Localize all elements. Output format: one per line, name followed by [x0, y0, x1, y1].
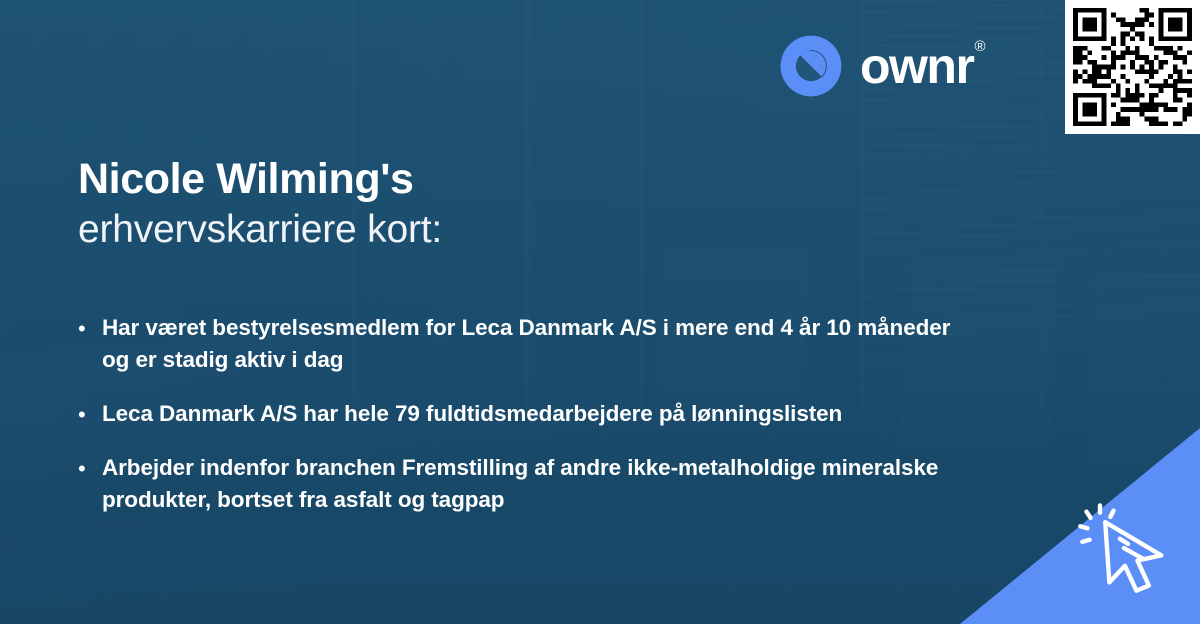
- brand-wordmark: ownr®: [860, 41, 985, 91]
- career-facts-list: • Har været bestyrelsesmedlem for Leca D…: [78, 312, 1078, 538]
- list-item-text: Arbejder indenfor branchen Fremstilling …: [102, 452, 982, 516]
- list-item: • Har været bestyrelsesmedlem for Leca D…: [78, 312, 1078, 376]
- qr-code-icon: [1073, 8, 1192, 126]
- list-item: • Arbejder indenfor branchen Fremstillin…: [78, 452, 1078, 516]
- bullet-icon: •: [78, 398, 102, 430]
- page-subtitle: erhvervskarriere kort:: [78, 207, 978, 254]
- brand-logo[interactable]: ownr®: [778, 33, 985, 99]
- list-item-text: Leca Danmark A/S har hele 79 fuldtidsmed…: [102, 398, 842, 430]
- person-name: Nicole Wilming's: [78, 155, 978, 203]
- qr-code[interactable]: [1065, 0, 1200, 134]
- registered-trademark-icon: ®: [974, 38, 985, 55]
- list-item: • Leca Danmark A/S har hele 79 fuldtidsm…: [78, 398, 1078, 430]
- ownr-swirl-circle-icon: [778, 33, 844, 99]
- bullet-icon: •: [78, 312, 102, 344]
- bullet-icon: •: [78, 452, 102, 484]
- list-item-text: Har været bestyrelsesmedlem for Leca Dan…: [102, 312, 982, 376]
- brand-wordmark-text: ownr: [860, 38, 973, 94]
- page-title: Nicole Wilming's erhvervskarriere kort:: [78, 155, 978, 254]
- click-cursor-icon: [1074, 494, 1178, 598]
